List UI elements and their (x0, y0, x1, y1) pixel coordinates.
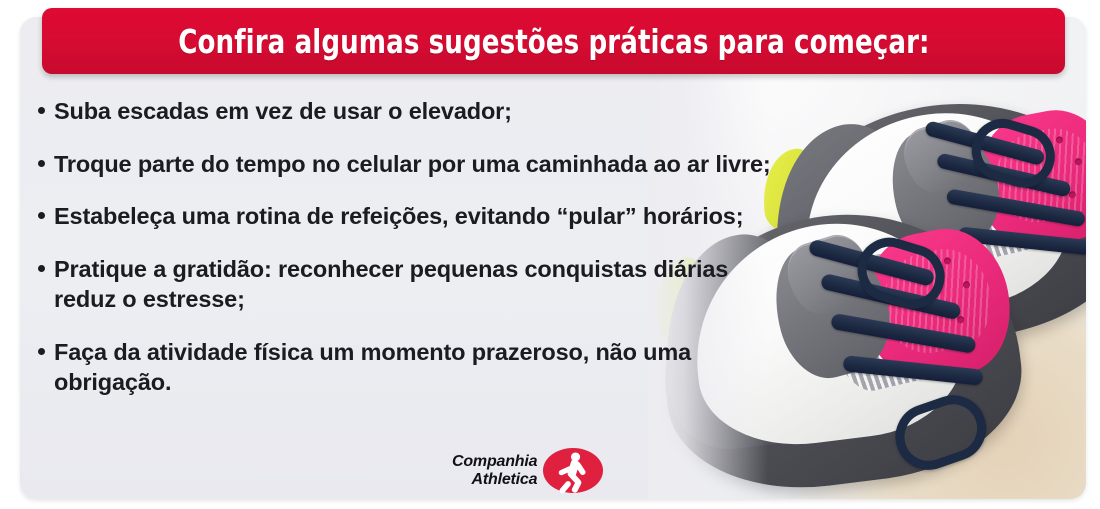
infographic-canvas: Confira algumas sugestões práticas para … (0, 0, 1100, 509)
brand-logo: Companhia Athletica (452, 447, 604, 494)
athlete-figure-icon (542, 447, 604, 494)
list-item: Pratique a gratidão: reconhecer pequenas… (38, 254, 778, 315)
bullet-dot-icon (38, 107, 45, 114)
brand-line-1: Companhia (452, 453, 537, 471)
list-item-text: Troque parte do tempo no celular por uma… (54, 149, 771, 180)
list-item-text: Estabeleça uma rotina de refeições, evit… (54, 201, 743, 232)
bullet-dot-icon (38, 160, 45, 167)
list-item-text: Pratique a gratidão: reconhecer pequenas… (54, 254, 778, 315)
list-item-text: Suba escadas em vez de usar o elevador; (54, 96, 512, 127)
headline-banner: Confira algumas sugestões práticas para … (42, 8, 1065, 74)
list-item: Faça da atividade física um momento praz… (38, 337, 778, 398)
list-item-text: Faça da atividade física um momento praz… (54, 337, 778, 398)
brand-line-2: Athletica (452, 471, 537, 489)
bullet-dot-icon (38, 265, 45, 272)
brand-wordmark: Companhia Athletica (452, 453, 537, 489)
headline-text: Confira algumas sugestões práticas para … (178, 22, 929, 61)
list-item: Troque parte do tempo no celular por uma… (38, 149, 778, 180)
bullet-dot-icon (38, 348, 45, 355)
list-item: Suba escadas em vez de usar o elevador; (38, 96, 778, 127)
bullet-dot-icon (38, 212, 45, 219)
tips-list: Suba escadas em vez de usar o elevador; … (38, 96, 778, 398)
list-item: Estabeleça uma rotina de refeições, evit… (38, 201, 778, 232)
